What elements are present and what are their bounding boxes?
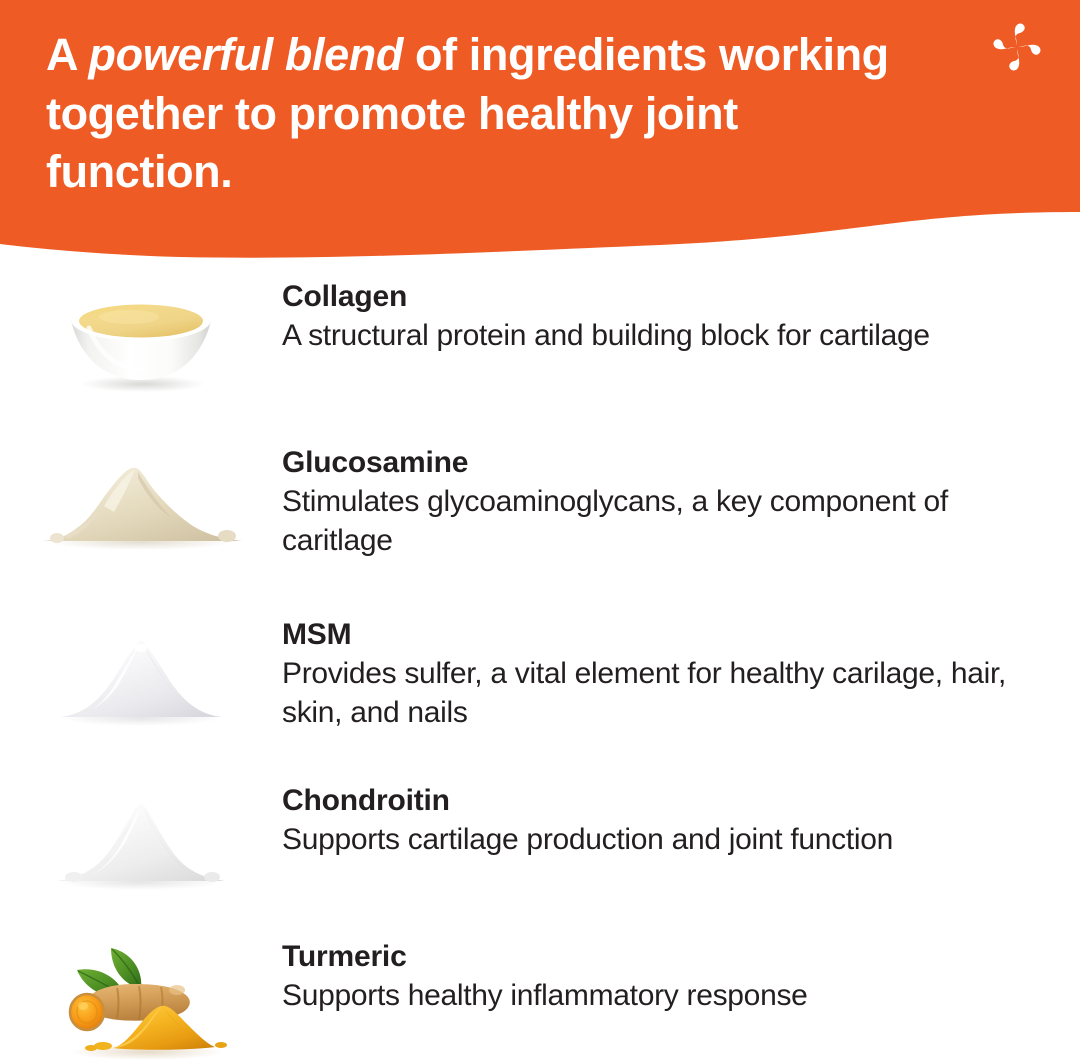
- headline-emphasis: powerful blend: [89, 29, 403, 80]
- ingredient-item-chondroitin: Chondroitin Supports cartilage productio…: [0, 768, 1080, 932]
- infographic-page: A powerful blend of ingredients working …: [0, 0, 1080, 1062]
- ingredient-thumb-chondroitin: [0, 784, 282, 896]
- header-banner: A powerful blend of ingredients working …: [0, 0, 1080, 262]
- ingredient-item-msm: MSM Provides sulfer, a vital element for…: [0, 600, 1080, 768]
- ingredient-thumb-glucosamine: [0, 446, 282, 554]
- ingredient-description: Supports cartilage production and joint …: [282, 820, 1046, 859]
- ingredient-description: Stimulates glycoaminoglycans, a key comp…: [282, 482, 1046, 560]
- ingredient-text-glucosamine: Glucosamine Stimulates glycoaminoglycans…: [282, 446, 1080, 560]
- ingredient-thumb-msm: [0, 618, 282, 730]
- ingredient-text-msm: MSM Provides sulfer, a vital element for…: [282, 618, 1080, 732]
- ingredient-description: A structural protein and building block …: [282, 316, 1046, 355]
- bowl-of-collagen-icon: [55, 280, 227, 392]
- ingredient-description: Supports healthy inflammatory response: [282, 976, 1046, 1015]
- msm-powder-icon: [46, 618, 236, 730]
- ingredient-name: Chondroitin: [282, 784, 1046, 818]
- ingredient-name: Turmeric: [282, 940, 1046, 974]
- ingredient-name: Glucosamine: [282, 446, 1046, 480]
- ingredient-item-collagen: Collagen A structural protein and buildi…: [0, 262, 1080, 430]
- four-lobed-pinwheel-logo-icon: [988, 18, 1046, 76]
- ingredient-item-glucosamine: Glucosamine Stimulates glycoaminoglycans…: [0, 430, 1080, 600]
- ingredient-name: Collagen: [282, 280, 1046, 314]
- ingredient-thumb-collagen: [0, 280, 282, 392]
- headline-prefix: A: [46, 29, 89, 80]
- ingredient-name: MSM: [282, 618, 1046, 652]
- ingredient-list: Collagen A structural protein and buildi…: [0, 262, 1080, 1062]
- ingredient-text-collagen: Collagen A structural protein and buildi…: [282, 280, 1080, 355]
- glucosamine-powder-icon: [34, 446, 249, 554]
- chondroitin-powder-icon: [46, 784, 236, 896]
- ingredient-item-turmeric: Turmeric Supports healthy inflammatory r…: [0, 932, 1080, 1062]
- ingredient-text-chondroitin: Chondroitin Supports cartilage productio…: [282, 784, 1080, 859]
- ingredient-description: Provides sulfer, a vital element for hea…: [282, 654, 1046, 732]
- ingredient-text-turmeric: Turmeric Supports healthy inflammatory r…: [282, 940, 1080, 1015]
- page-title: A powerful blend of ingredients working …: [46, 26, 926, 202]
- ingredient-thumb-turmeric: [0, 940, 282, 1062]
- turmeric-root-icon: [55, 940, 227, 1062]
